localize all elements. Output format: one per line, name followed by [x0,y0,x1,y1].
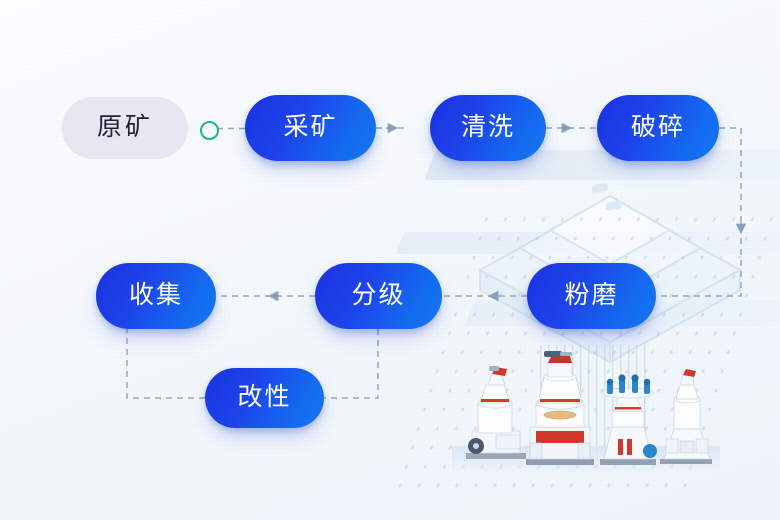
flow-node-grinding[interactable]: 粉磨 [527,263,656,329]
connector-layer [0,0,780,520]
flow-node-label: 收集 [129,283,183,308]
flow-node-label: 采矿 [283,115,337,140]
machine-vertical-roller-mill [526,351,594,465]
flow-node-label: 清洗 [461,115,515,140]
flow-node-label: 改性 [237,385,291,410]
flow-node-collecting[interactable]: 收集 [96,263,216,329]
grinding-mill-illustration [452,343,720,473]
flow-node-label: 原矿 [97,115,153,140]
background-stripe [396,232,780,254]
illustration-ground-shadow [452,446,720,472]
background-dot-pattern [386,210,780,500]
flow-node-raw-ore[interactable]: 原矿 [62,97,188,159]
machine-compact-mill [660,369,712,464]
flow-diagram-canvas: 原矿 采矿 清洗 破碎 粉磨 分级 收集 改性 [0,0,780,520]
flow-node-crushing[interactable]: 破碎 [597,95,719,161]
flow-node-mining[interactable]: 采矿 [245,95,376,161]
edge-classify-to-modify [324,329,378,398]
flow-node-classifying[interactable]: 分级 [315,263,442,329]
flow-node-label: 粉磨 [564,283,618,308]
flow-node-label: 分级 [351,283,405,308]
flow-node-modifying[interactable]: 改性 [205,368,324,428]
flow-node-washing[interactable]: 清洗 [430,95,546,161]
machine-ultrafine-mill [600,374,657,465]
start-marker-icon [200,121,219,140]
edge-modify-to-collect [127,329,205,398]
flow-node-label: 破碎 [631,115,685,140]
background-noise-texture [0,0,780,520]
machine-raymond-mill [466,366,526,459]
background-vertical-stripes [540,345,650,455]
